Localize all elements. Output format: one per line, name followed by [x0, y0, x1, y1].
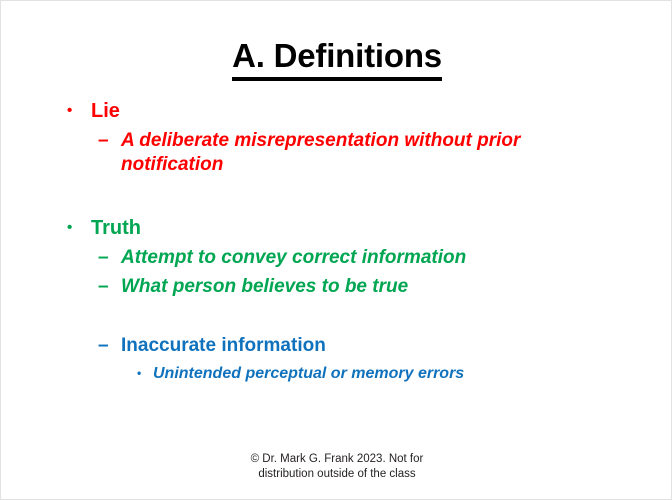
bullet-dash-icon: – [98, 275, 121, 298]
sub-bullet-truth-believes: – What person believes to be true [61, 275, 621, 298]
sub-bullet-truth-convey-label: Attempt to convey correct information [121, 246, 621, 269]
bullet-dash-icon: – [98, 246, 121, 269]
sub-bullet-unintended-errors: • Unintended perceptual or memory errors [61, 364, 621, 384]
group-spacer [61, 182, 621, 216]
bullet-truth-label: Truth [91, 216, 621, 240]
copyright-line-1: © Dr. Mark G. Frank 2023. Not for [1, 452, 672, 468]
sub-bullet-lie-definition: – A deliberate misrepresentation without… [61, 129, 621, 175]
group-spacer [61, 304, 621, 334]
sub-bullet-unintended-errors-label: Unintended perceptual or memory errors [153, 364, 621, 384]
bullet-dash-icon: – [98, 334, 121, 357]
slide-canvas: A. Definitions • Lie – A deliberate misr… [0, 0, 672, 500]
bullet-dot-icon: • [137, 364, 153, 383]
bullet-lie-label: Lie [91, 99, 621, 123]
bullet-dot-icon: • [61, 99, 91, 122]
slide-body: • Lie – A deliberate misrepresentation w… [61, 99, 621, 387]
bullet-truth: • Truth [61, 216, 621, 240]
sub-bullet-truth-convey: – Attempt to convey correct information [61, 246, 621, 269]
sub-bullet-lie-definition-label: A deliberate misrepresentation without p… [121, 129, 621, 175]
bullet-inaccurate-information: – Inaccurate information [61, 334, 621, 357]
bullet-dash-icon: – [98, 129, 121, 152]
bullet-dot-icon: • [61, 216, 91, 239]
bullet-group-inaccurate-information: – Inaccurate information • Unintended pe… [61, 334, 621, 383]
sub-bullet-truth-believes-label: What person believes to be true [121, 275, 621, 298]
bullet-inaccurate-information-label: Inaccurate information [121, 334, 621, 357]
bullet-group-truth: • Truth – Attempt to convey correct info… [61, 216, 621, 299]
bullet-lie: • Lie [61, 99, 621, 123]
copyright-line-2: distribution outside of the class [1, 467, 672, 483]
page-title-text: A. Definitions [232, 39, 442, 81]
page-title: A. Definitions [1, 37, 672, 81]
bullet-group-lie: • Lie – A deliberate misrepresentation w… [61, 99, 621, 176]
copyright-footer: © Dr. Mark G. Frank 2023. Not for distri… [1, 452, 672, 483]
